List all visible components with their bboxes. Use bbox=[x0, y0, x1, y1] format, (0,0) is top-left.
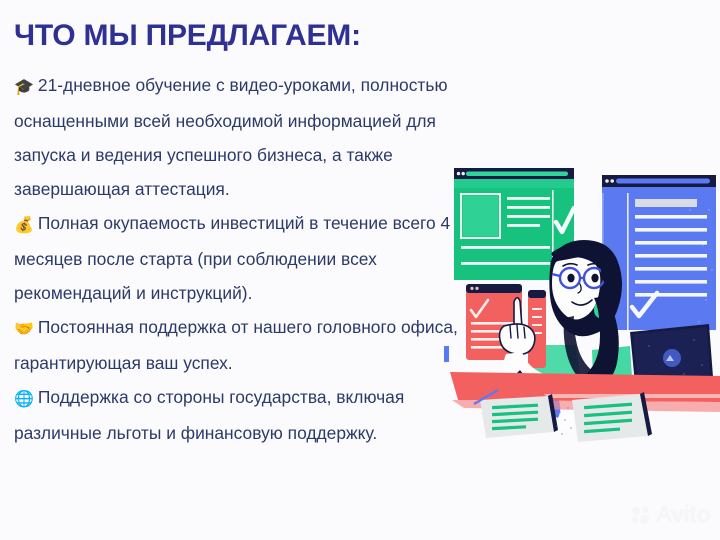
list-item: 💰Полная окупаемость инвестиций в течение… bbox=[14, 206, 492, 310]
list-item-text: Постоянная поддержка от нашего головного… bbox=[14, 317, 458, 373]
money-bag-icon: 💰 bbox=[14, 215, 34, 234]
list-item-text: 21-дневное обучение с видео-уроками, пол… bbox=[14, 75, 448, 199]
handshake-icon: 🤝 bbox=[14, 319, 34, 338]
list-item: 🎓21-дневное обучение с видео-уроками, по… bbox=[14, 68, 492, 206]
offer-list: 🎓21-дневное обучение с видео-уроками, по… bbox=[14, 68, 492, 450]
poster-canvas: ЧТО МЫ ПРЕДЛАГАЕМ: 🎓21-дневное обучение … bbox=[0, 0, 720, 540]
graduation-cap-icon: 🎓 bbox=[14, 77, 34, 96]
avito-watermark-label: Avito bbox=[656, 501, 710, 528]
globe-icon: 🌐 bbox=[14, 389, 34, 408]
avito-logo-icon bbox=[630, 504, 652, 526]
avito-watermark: Avito bbox=[630, 501, 710, 528]
woman-at-desk-illustration bbox=[444, 150, 720, 450]
page-title: ЧТО МЫ ПРЕДЛАГАЕМ: bbox=[14, 19, 434, 52]
list-item-text: Поддержка со стороны государства, включа… bbox=[14, 387, 404, 443]
desk-paper-right bbox=[572, 392, 652, 442]
blue-browser-window bbox=[602, 175, 716, 330]
list-item: 🤝Постоянная поддержка от нашего головног… bbox=[14, 310, 492, 380]
list-item: 🌐Поддержка со стороны государства, включ… bbox=[14, 380, 492, 450]
list-item-text: Полная окупаемость инвестиций в течение … bbox=[14, 213, 450, 303]
